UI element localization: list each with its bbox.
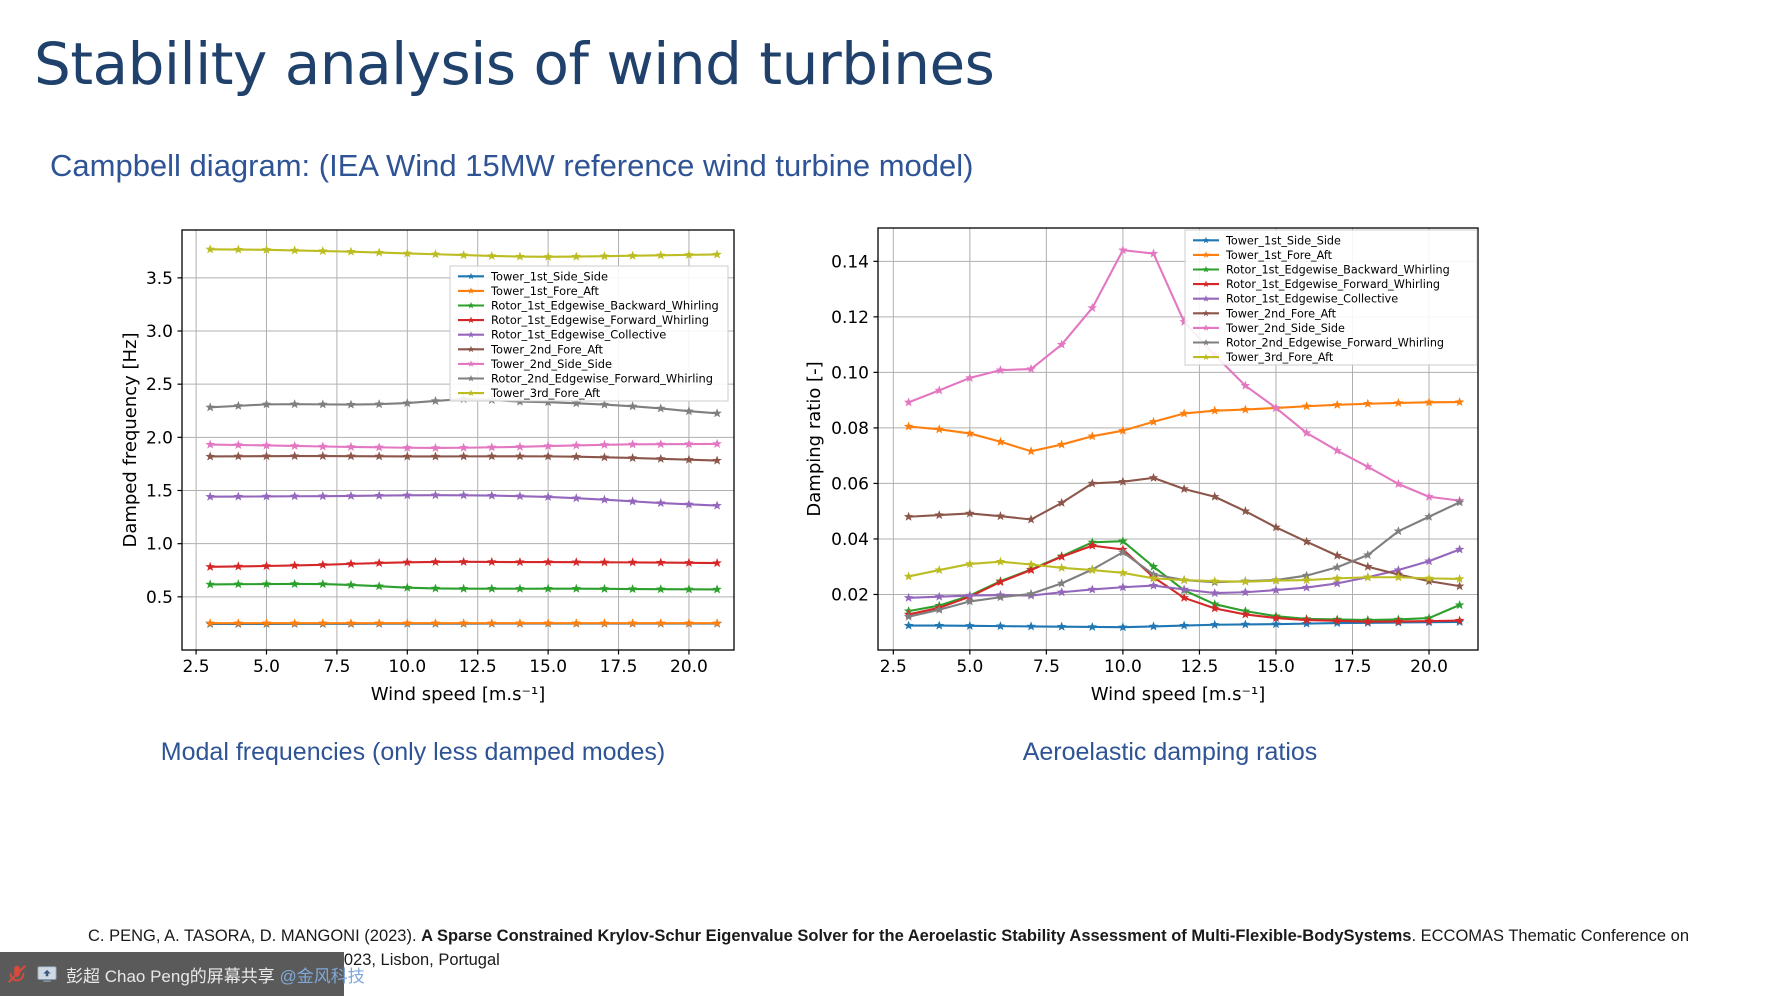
subtitle: Campbell diagram: (IEA Wind 15MW referen… xyxy=(50,148,974,184)
slide-root: Stability analysis of wind turbines Camp… xyxy=(0,0,1768,996)
svg-text:7.5: 7.5 xyxy=(323,657,350,677)
svg-text:Rotor_1st_Edgewise_Forward_Whi: Rotor_1st_Edgewise_Forward_Whirling xyxy=(1226,278,1440,291)
svg-text:Rotor_1st_Edgewise_Collective: Rotor_1st_Edgewise_Collective xyxy=(491,328,666,342)
svg-text:Wind speed [m.s⁻¹]: Wind speed [m.s⁻¹] xyxy=(1091,684,1265,705)
svg-text:12.5: 12.5 xyxy=(1180,657,1218,677)
svg-text:12.5: 12.5 xyxy=(459,657,497,677)
svg-text:2.5: 2.5 xyxy=(880,657,907,677)
svg-text:0.12: 0.12 xyxy=(831,308,869,328)
screen-share-bar[interactable]: 彭超 Chao Peng的屏幕共享 @金风科技 xyxy=(0,952,344,996)
svg-text:7.5: 7.5 xyxy=(1033,657,1060,677)
svg-text:2.5: 2.5 xyxy=(183,657,210,677)
campbell-frequency-plot: 2.55.07.510.012.515.017.520.00.51.01.52.… xyxy=(120,218,740,738)
microphone-muted-icon[interactable] xyxy=(6,961,28,987)
svg-text:Rotor_2nd_Edgewise_Forward_Whi: Rotor_2nd_Edgewise_Forward_Whirling xyxy=(491,372,713,386)
svg-text:5.0: 5.0 xyxy=(253,657,280,677)
svg-text:Damped frequency [Hz]: Damped frequency [Hz] xyxy=(120,332,141,547)
svg-text:15.0: 15.0 xyxy=(529,657,567,677)
chart-modal-frequencies: 2.55.07.510.012.515.017.520.00.51.01.52.… xyxy=(120,218,740,738)
svg-text:1.0: 1.0 xyxy=(146,535,173,555)
caption-right: Aeroelastic damping ratios xyxy=(930,738,1410,767)
svg-text:Rotor_1st_Edgewise_Collective: Rotor_1st_Edgewise_Collective xyxy=(1226,293,1398,306)
svg-text:0.02: 0.02 xyxy=(831,585,869,605)
chart-damping-ratios: 2.55.07.510.012.515.017.520.00.020.040.0… xyxy=(800,218,1480,738)
page-title: Stability analysis of wind turbines xyxy=(34,34,994,95)
svg-text:Tower_1st_Side_Side: Tower_1st_Side_Side xyxy=(490,269,608,283)
svg-text:Tower_1st_Fore_Aft: Tower_1st_Fore_Aft xyxy=(490,284,599,298)
svg-text:10.0: 10.0 xyxy=(1104,657,1142,677)
svg-text:Rotor_1st_Edgewise_Forward_Whi: Rotor_1st_Edgewise_Forward_Whirling xyxy=(491,313,709,327)
svg-text:Damping ratio [-]: Damping ratio [-] xyxy=(804,361,825,516)
footer-line2-bold: Systems xyxy=(1344,927,1412,945)
svg-text:5.0: 5.0 xyxy=(956,657,983,677)
watermark-label: @金风科技 xyxy=(280,967,365,986)
svg-text:Tower_2nd_Fore_Aft: Tower_2nd_Fore_Aft xyxy=(490,342,604,356)
svg-text:0.04: 0.04 xyxy=(831,530,869,550)
svg-text:Tower_2nd_Side_Side: Tower_2nd_Side_Side xyxy=(490,357,612,371)
svg-text:Tower_1st_Side_Side: Tower_1st_Side_Side xyxy=(1225,234,1341,247)
subtitle-rest: (IEA Wind 15MW reference wind turbine mo… xyxy=(310,148,973,183)
svg-text:Tower_2nd_Side_Side: Tower_2nd_Side_Side xyxy=(1225,322,1345,335)
svg-text:17.5: 17.5 xyxy=(600,657,638,677)
svg-text:Rotor_1st_Edgewise_Backward_Wh: Rotor_1st_Edgewise_Backward_Whirling xyxy=(491,299,719,313)
svg-text:0.08: 0.08 xyxy=(831,419,869,439)
svg-text:Rotor_2nd_Edgewise_Forward_Whi: Rotor_2nd_Edgewise_Forward_Whirling xyxy=(1226,337,1444,350)
screen-share-icon[interactable] xyxy=(36,961,58,987)
svg-text:0.06: 0.06 xyxy=(831,474,869,494)
share-owner: 彭超 Chao Peng的屏幕共享 xyxy=(66,967,280,986)
svg-text:3.5: 3.5 xyxy=(146,269,173,289)
svg-text:0.10: 0.10 xyxy=(831,363,869,383)
svg-text:20.0: 20.0 xyxy=(670,657,708,677)
svg-text:Rotor_1st_Edgewise_Backward_Wh: Rotor_1st_Edgewise_Backward_Whirling xyxy=(1226,264,1450,277)
svg-text:3.0: 3.0 xyxy=(146,322,173,342)
svg-text:17.5: 17.5 xyxy=(1334,657,1372,677)
svg-text:Tower_1st_Fore_Aft: Tower_1st_Fore_Aft xyxy=(1225,249,1333,262)
campbell-damping-plot: 2.55.07.510.012.515.017.520.00.020.040.0… xyxy=(800,218,1480,738)
svg-text:20.0: 20.0 xyxy=(1410,657,1448,677)
svg-text:Tower_3rd_Fore_Aft: Tower_3rd_Fore_Aft xyxy=(1225,351,1334,364)
footer-line1-bold: A Sparse Constrained Krylov-Schur Eigenv… xyxy=(421,927,1343,945)
svg-text:10.0: 10.0 xyxy=(388,657,426,677)
screen-share-label: 彭超 Chao Peng的屏幕共享 @金风科技 xyxy=(66,962,365,987)
footer-line1-plain: C. PENG, A. TASORA, D. MANGONI (2023). xyxy=(88,927,421,945)
svg-text:0.5: 0.5 xyxy=(146,588,173,608)
svg-text:1.5: 1.5 xyxy=(146,482,173,502)
svg-text:Wind speed [m.s⁻¹]: Wind speed [m.s⁻¹] xyxy=(371,684,545,705)
svg-text:2.0: 2.0 xyxy=(146,428,173,448)
svg-text:15.0: 15.0 xyxy=(1257,657,1295,677)
svg-text:Tower_3rd_Fore_Aft: Tower_3rd_Fore_Aft xyxy=(490,386,601,400)
svg-text:2.5: 2.5 xyxy=(146,375,173,395)
caption-left: Modal frequencies (only less damped mode… xyxy=(143,738,683,767)
subtitle-lead: Campbell diagram: xyxy=(50,148,310,183)
svg-text:Tower_2nd_Fore_Aft: Tower_2nd_Fore_Aft xyxy=(1225,307,1337,320)
svg-text:0.14: 0.14 xyxy=(831,252,869,272)
